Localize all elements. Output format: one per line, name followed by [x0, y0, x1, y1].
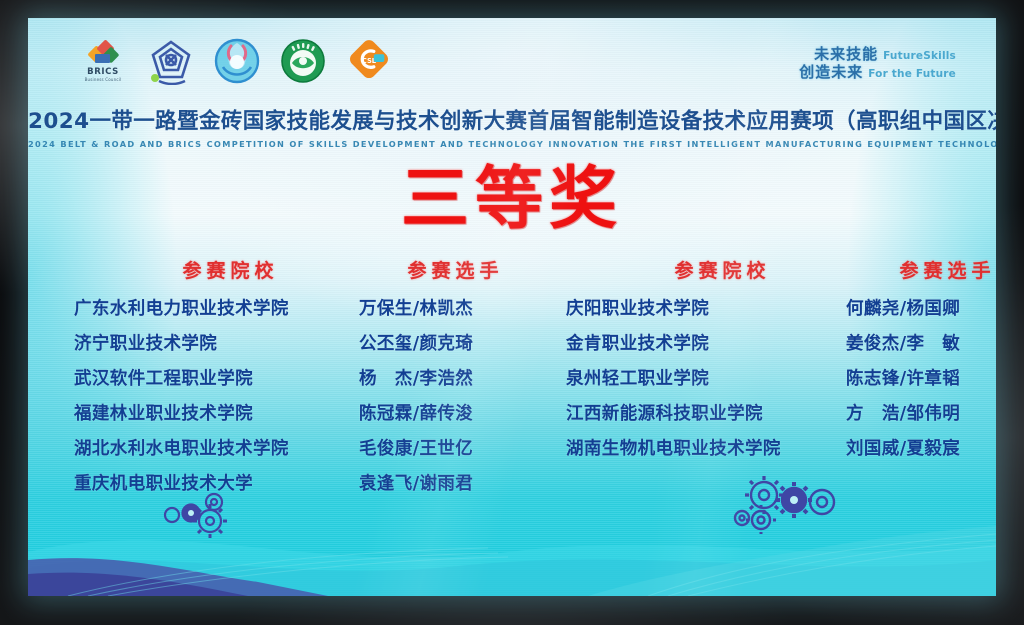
table-row: 湖南生物机电职业技术学院 刘国威/夏毅宸 — [566, 435, 996, 470]
winners-table: 参赛院校 参赛选手 广东水利电力职业技术学院 万保生/林凯杰 济宁职业技术学院 … — [74, 256, 962, 522]
award-heading: 三等奖 — [28, 166, 996, 234]
table-rows-right: 庆阳职业技术学院 何麟尧/杨国卿 金肯职业技术学院 姜俊杰/李 敏 泉州轻工职业… — [566, 295, 996, 505]
event-title-block: 2024一带一路暨金砖国家技能发展与技术创新大赛首届智能制造设备技术应用赛项（高… — [28, 104, 996, 149]
slogan-line-1-cn: 未来技能 — [814, 46, 878, 64]
cell-school: 重庆机电职业技术大学 — [74, 470, 359, 495]
cell-player: 陈冠霖/薛传浚 — [359, 400, 524, 425]
futureskills-slogan: 未来技能 FutureSkills 创造未来 For the Future — [799, 46, 956, 81]
table-rows-left: 广东水利电力职业技术学院 万保生/林凯杰 济宁职业技术学院 公丕玺/颜克琦 武汉… — [74, 295, 538, 505]
cell-player: 毛俊康/王世亿 — [359, 435, 524, 460]
column-header-school-right: 参赛院校 — [566, 256, 865, 283]
table-row: 福建林业职业技术学院 陈冠霖/薛传浚 — [74, 400, 538, 435]
cell-player: 姜俊杰/李 敏 — [846, 330, 996, 355]
winners-table-left-half: 参赛院校 参赛选手 广东水利电力职业技术学院 万保生/林凯杰 济宁职业技术学院 … — [74, 256, 538, 522]
winners-table-right-half: 参赛院校 参赛选手 庆阳职业技术学院 何麟尧/杨国卿 金肯职业技术学院 姜俊杰/… — [566, 256, 996, 522]
cell-player: 陈志锋/许章韬 — [846, 365, 996, 390]
event-title-cn: 2024一带一路暨金砖国家技能发展与技术创新大赛首届智能制造设备技术应用赛项（高… — [28, 104, 996, 135]
brics-logo-text: BRICS — [87, 68, 119, 77]
table-row: 庆阳职业技术学院 何麟尧/杨国卿 — [566, 295, 996, 330]
cell-player: 何麟尧/杨国卿 — [846, 295, 996, 320]
cell-school: 泉州轻工职业学院 — [566, 365, 846, 390]
cell-player: 刘国威/夏毅宸 — [846, 435, 996, 460]
table-row: 湖北水利水电职业技术学院 毛俊康/王世亿 — [74, 435, 538, 470]
cell-player: 万保生/林凯杰 — [359, 295, 524, 320]
cell-player: 方 浩/邹伟明 — [846, 400, 996, 425]
cell-school: 武汉软件工程职业学院 — [74, 365, 359, 390]
table-row: 金肯职业技术学院 姜俊杰/李 敏 — [566, 330, 996, 365]
led-display-panel: BRICS Business Council — [28, 18, 996, 596]
slogan-line-1: 未来技能 FutureSkills — [799, 46, 956, 64]
cell-school: 庆阳职业技术学院 — [566, 295, 846, 320]
green-circle-emblem-logo — [278, 36, 328, 86]
screenshot-root: BRICS Business Council — [0, 0, 1024, 625]
table-row: 广东水利电力职业技术学院 万保生/林凯杰 — [74, 295, 538, 330]
cell-player: 公丕玺/颜克琦 — [359, 330, 524, 355]
column-header-school-left: 参赛院校 — [74, 256, 373, 283]
slogan-line-2-en: For the Future — [868, 68, 956, 80]
slogan-line-2-cn: 创造未来 — [799, 64, 863, 82]
sponsor-logo-strip: BRICS Business Council — [76, 36, 394, 86]
table-header-right: 参赛院校 参赛选手 — [566, 256, 996, 283]
cell-school: 金肯职业技术学院 — [566, 330, 846, 355]
cell-player: 杨 杰/李浩然 — [359, 365, 524, 390]
award-title: 三等奖 — [401, 166, 623, 234]
cell-school: 湖北水利水电职业技术学院 — [74, 435, 359, 460]
cell-school: 广东水利电力职业技术学院 — [74, 295, 359, 320]
table-row — [566, 470, 996, 505]
column-header-player-right: 参赛选手 — [865, 256, 996, 283]
table-header-left: 参赛院校 参赛选手 — [74, 256, 538, 283]
table-row: 泉州轻工职业学院 陈志锋/许章韬 — [566, 365, 996, 400]
cell-school: 福建林业职业技术学院 — [74, 400, 359, 425]
brics-logo: BRICS Business Council — [76, 36, 130, 86]
slogan-line-1-en: FutureSkills — [883, 50, 956, 62]
cell-school: 江西新能源科技职业学院 — [566, 400, 846, 425]
cell-school: 济宁职业技术学院 — [74, 330, 359, 355]
skills-star-logo — [146, 36, 196, 86]
cell-school: 湖南生物机电职业技术学院 — [566, 435, 846, 460]
brics-logo-subtext: Business Council — [85, 78, 122, 82]
table-row: 重庆机电职业技术大学 袁逢飞/谢雨君 — [74, 470, 538, 505]
brics-mark-icon — [88, 41, 118, 67]
table-row: 济宁职业技术学院 公丕玺/颜克琦 — [74, 330, 538, 365]
worldskills-emblem-logo — [212, 36, 262, 86]
csl-diamond-logo: CSL — [344, 36, 394, 86]
cell-player: 袁逢飞/谢雨君 — [359, 470, 524, 495]
event-title-en: 2024 BELT & ROAD AND BRICS COMPETITION O… — [28, 139, 996, 149]
column-header-player-left: 参赛选手 — [373, 256, 538, 283]
table-row: 江西新能源科技职业学院 方 浩/邹伟明 — [566, 400, 996, 435]
slogan-line-2: 创造未来 For the Future — [799, 64, 956, 82]
table-row: 武汉软件工程职业学院 杨 杰/李浩然 — [74, 365, 538, 400]
